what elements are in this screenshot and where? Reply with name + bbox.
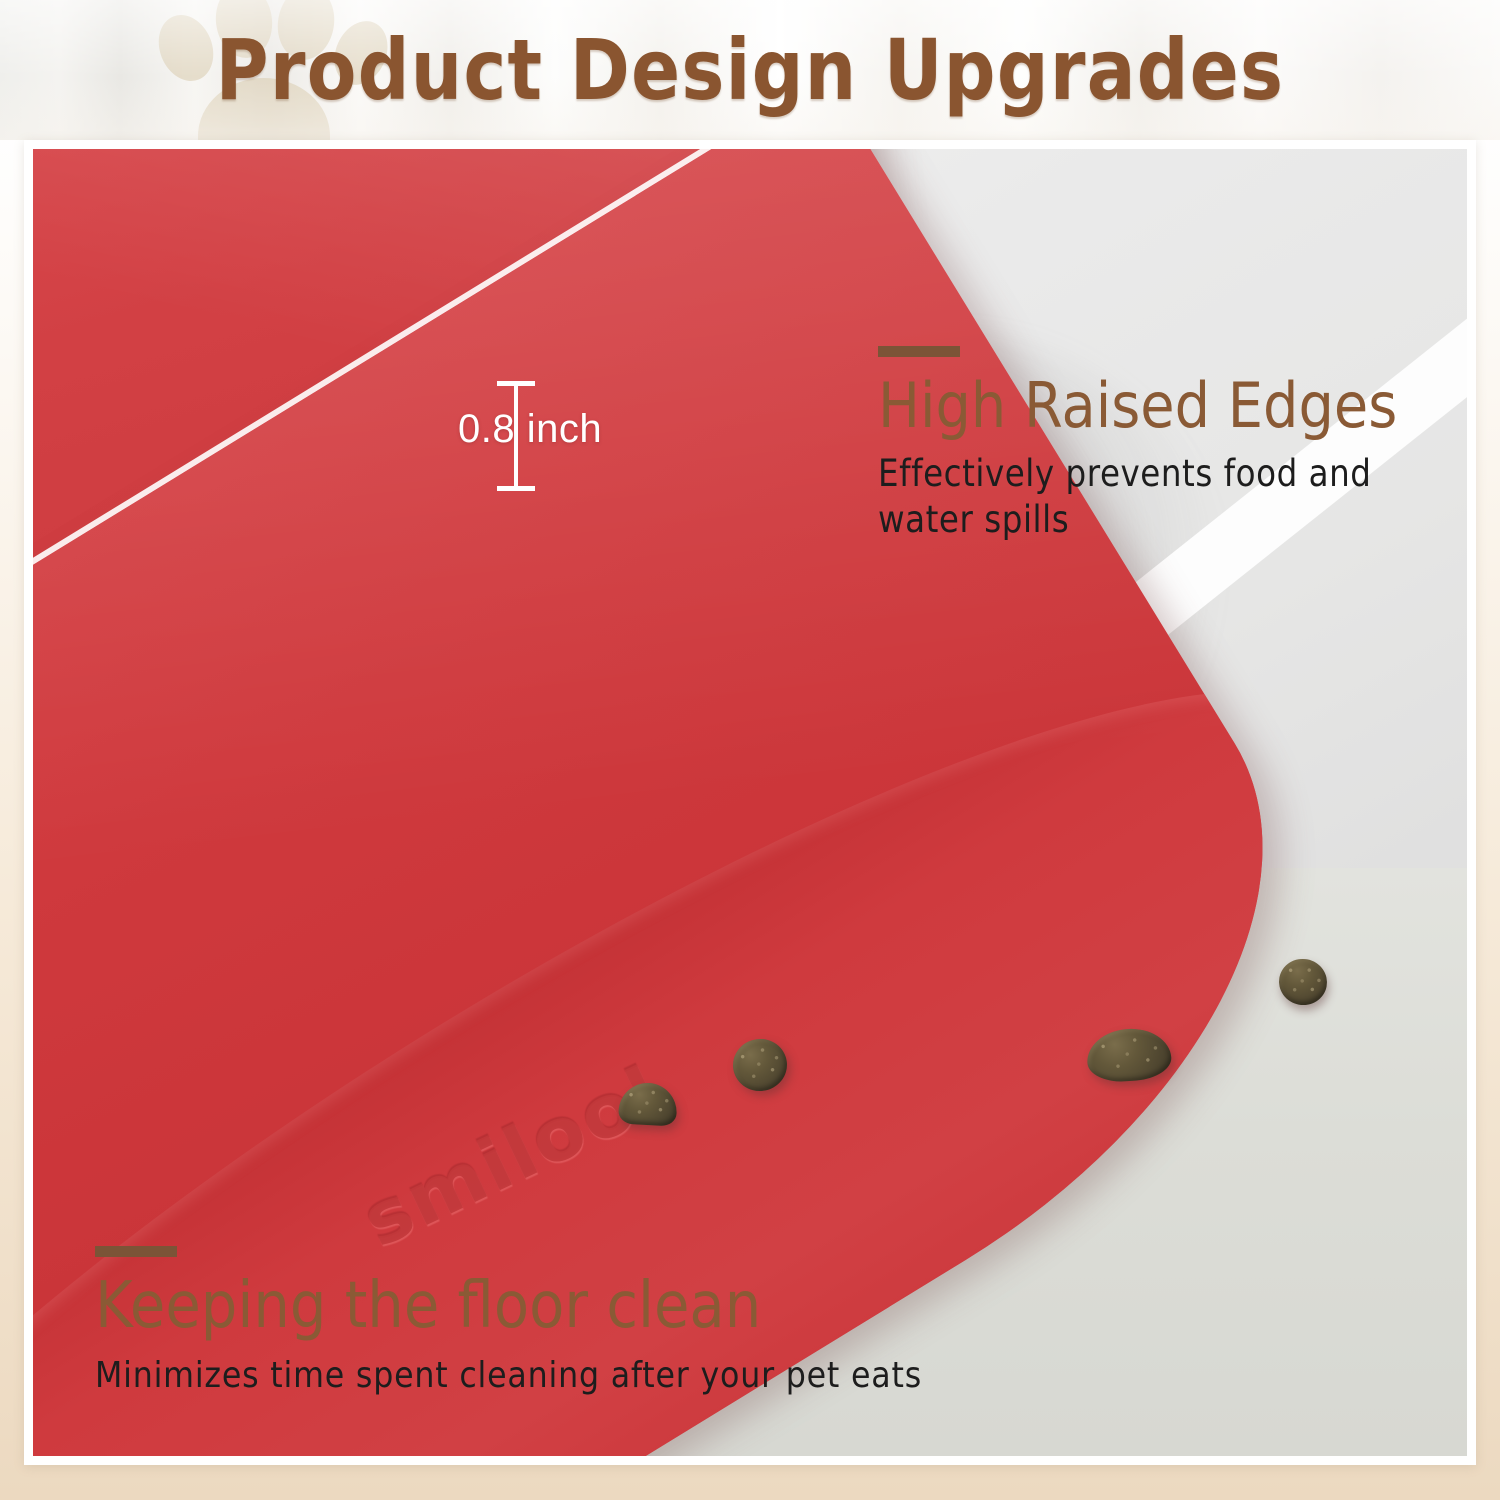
callout-body: Minimizes time spent cleaning after your… bbox=[95, 1353, 922, 1398]
product-photo: smilool 0.8 inch High Raised Edges Effec… bbox=[33, 149, 1467, 1456]
callout-heading: Keeping the floor clean bbox=[95, 1273, 941, 1341]
accent-dash-icon bbox=[95, 1246, 177, 1257]
accent-dash-icon bbox=[878, 346, 960, 357]
callout-body: Effectively prevents food and water spil… bbox=[878, 451, 1396, 544]
page-background: Product Design Upgrades bbox=[0, 0, 1500, 1500]
page-title: Product Design Upgrades bbox=[105, 0, 1395, 140]
header-band: Product Design Upgrades bbox=[0, 0, 1500, 140]
dimension-label: 0.8 inch bbox=[458, 407, 602, 452]
product-photo-frame: smilool 0.8 inch High Raised Edges Effec… bbox=[24, 140, 1476, 1465]
callout-keeping-floor-clean: Keeping the floor clean Minimizes time s… bbox=[95, 1246, 1035, 1398]
callout-high-raised-edges: High Raised Edges Effectively prevents f… bbox=[878, 346, 1467, 544]
callout-heading: High Raised Edges bbox=[878, 373, 1408, 439]
